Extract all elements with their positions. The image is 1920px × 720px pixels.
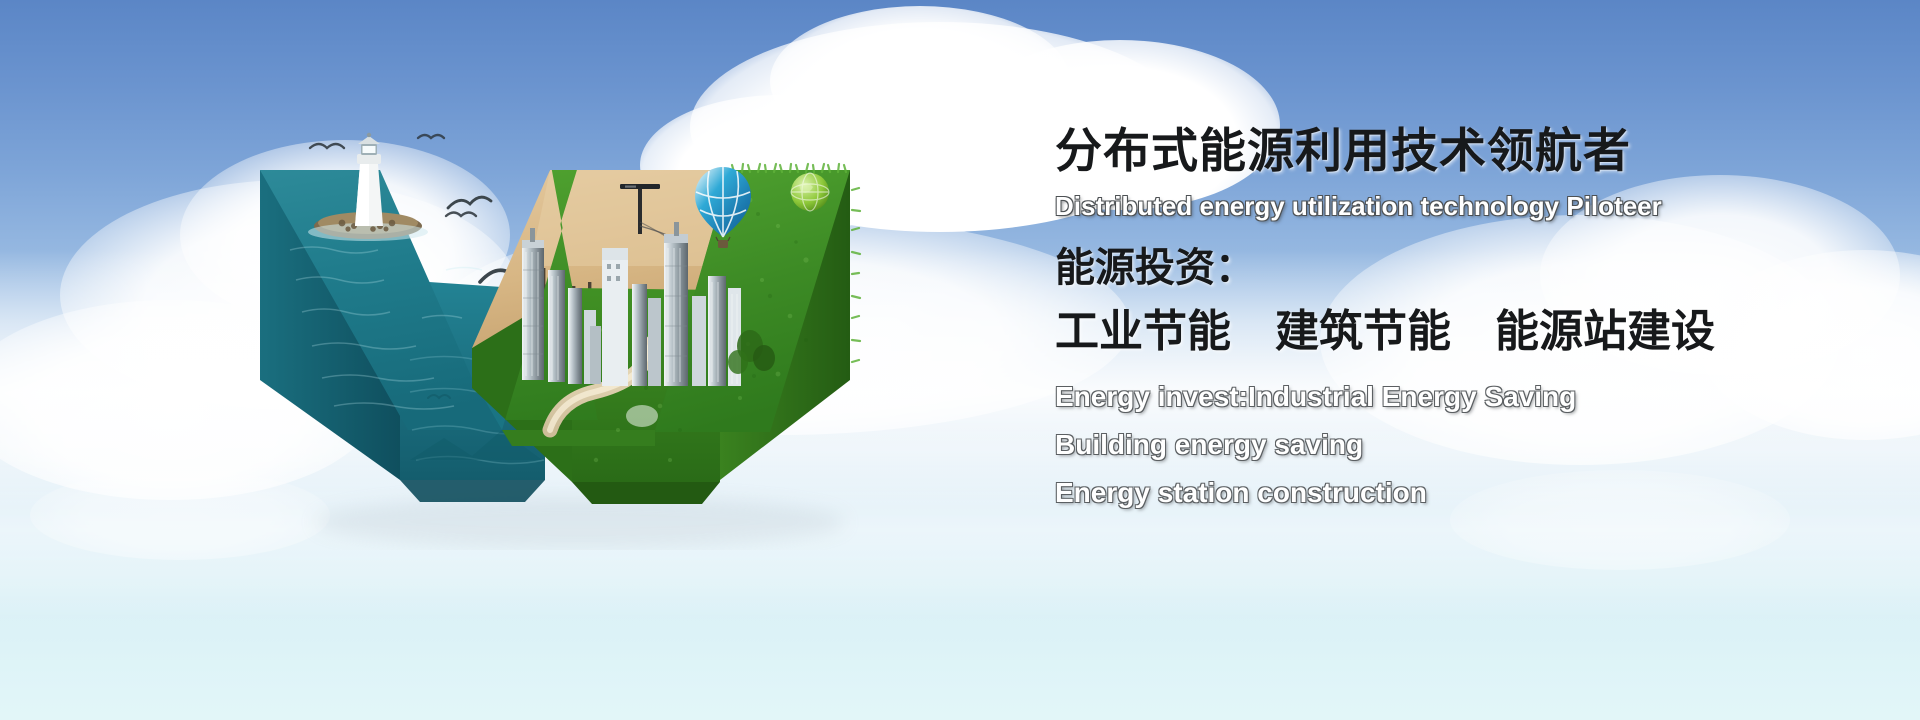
ocean-bottom-bevel [400, 480, 545, 502]
w-letter-landscape-logo [250, 130, 970, 550]
logo-ground-shadow [315, 496, 845, 548]
lighthouse-icon [355, 133, 383, 226]
headline-chinese: 分布式能源利用技术领航者 [1055, 126, 1895, 177]
services-chinese: 工业节能 建筑节能 能源站建设 [1055, 308, 1895, 356]
service-english-3: Energy station construction [1055, 479, 1895, 507]
copy-block: 分布式能源利用技术领航者 Distributed energy utilizat… [1055, 126, 1895, 507]
service-english-1: Energy invest:Industrial Energy Saving [1055, 383, 1895, 411]
banner-root: 分布式能源利用技术领航者 Distributed energy utilizat… [0, 0, 1920, 720]
grass-inner-basin [502, 430, 655, 446]
path-glow [626, 405, 658, 427]
service-english-2: Building energy saving [1055, 431, 1895, 459]
seagull-small-icon-2 [448, 197, 491, 208]
section-label-chinese: 能源投资： [1055, 246, 1895, 290]
green-globe-icon [791, 173, 829, 211]
grass-bottom-bevel [572, 482, 720, 504]
headline-english: Distributed energy utilization technolog… [1055, 192, 1895, 221]
